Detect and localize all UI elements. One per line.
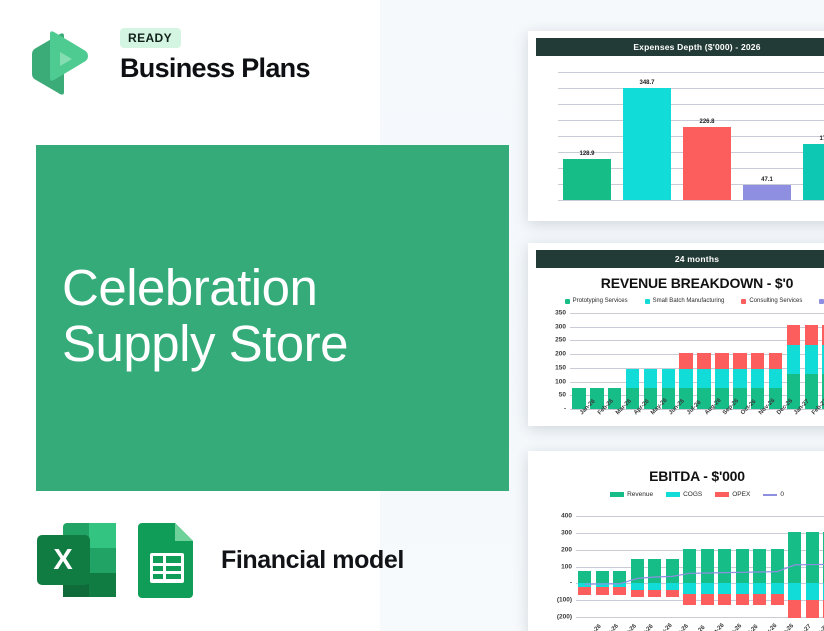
bar-segment bbox=[751, 369, 765, 388]
y-axis-tick: 200 bbox=[561, 546, 576, 553]
bar-column[interactable] bbox=[767, 313, 785, 409]
bar-segment bbox=[715, 369, 729, 388]
bar-group bbox=[570, 313, 824, 409]
brand-text-block: READY Business Plans bbox=[120, 28, 310, 84]
y-axis-tick: (100) bbox=[557, 597, 576, 604]
page-title-line-1: Celebration bbox=[62, 260, 348, 316]
legend-item: - bbox=[819, 298, 824, 304]
bar-column[interactable] bbox=[677, 313, 695, 409]
svg-text:X: X bbox=[53, 544, 73, 576]
bar-segment bbox=[751, 353, 765, 369]
bar-column[interactable] bbox=[570, 313, 588, 409]
legend-item: Small Batch Manufacturing bbox=[645, 298, 725, 304]
revenue-chart-legend: Prototyping ServicesSmall Batch Manufact… bbox=[536, 298, 824, 304]
chart-card-ebitda[interactable]: EBITDA - $'000 RevenueCOGSOPEX0 40030020… bbox=[528, 451, 824, 631]
legend-item: Consulting Services bbox=[741, 298, 802, 304]
bar-column[interactable] bbox=[820, 313, 824, 409]
chart-card-expenses[interactable]: Expenses Depth ($'000) - 2026 128.9348.7… bbox=[528, 31, 824, 221]
bar-column[interactable]: 176.5 bbox=[798, 72, 824, 200]
bar-column[interactable] bbox=[785, 313, 803, 409]
page-title: Celebration Supply Store bbox=[62, 260, 348, 372]
y-axis-tick: 400 bbox=[561, 513, 576, 520]
ebitda-plot-area: 400300200100-(100)(200)(300)Jan-26Feb-26… bbox=[576, 516, 824, 631]
page-title-line-2: Supply Store bbox=[62, 316, 348, 372]
legend-label: 0 bbox=[780, 491, 784, 498]
legend-swatch bbox=[565, 299, 570, 304]
bar-column[interactable] bbox=[713, 313, 731, 409]
ebitda-line-series bbox=[576, 516, 824, 631]
legend-label: OPEX bbox=[732, 491, 750, 498]
y-axis-tick: 50 bbox=[559, 392, 570, 399]
legend-swatch bbox=[610, 492, 624, 497]
bar-segment bbox=[715, 353, 729, 369]
legend-item: OPEX bbox=[715, 491, 750, 498]
bar-column[interactable] bbox=[749, 313, 767, 409]
legend-item: Revenue bbox=[610, 491, 653, 498]
footer-label: Financial model bbox=[221, 546, 404, 575]
legend-item: COGS bbox=[666, 491, 702, 498]
slide-canvas: READY Business Plans Celebration Supply … bbox=[0, 0, 824, 631]
legend-swatch bbox=[741, 299, 746, 304]
bar-segment bbox=[733, 353, 747, 369]
y-axis-tick: (200) bbox=[557, 614, 576, 621]
legend-swatch bbox=[645, 299, 650, 304]
brand-logo[interactable]: READY Business Plans bbox=[28, 28, 328, 100]
legend-swatch bbox=[819, 299, 824, 304]
legend-swatch bbox=[666, 492, 680, 497]
bar-column[interactable] bbox=[588, 313, 606, 409]
ready-badge: READY bbox=[120, 28, 181, 48]
bar-segment bbox=[697, 353, 711, 369]
y-axis-tick: 200 bbox=[555, 351, 570, 358]
bar-segment bbox=[805, 345, 819, 374]
y-axis-tick: 300 bbox=[555, 323, 570, 330]
ebitda-chart-title: EBITDA - $'000 bbox=[536, 468, 824, 484]
bar-column[interactable] bbox=[695, 313, 713, 409]
y-axis-tick: 300 bbox=[561, 529, 576, 536]
legend-label: Small Batch Manufacturing bbox=[653, 298, 725, 304]
bar-column[interactable]: 128.9 bbox=[558, 72, 616, 200]
gridline bbox=[558, 200, 824, 201]
x-axis: Jan-26Feb-26Mar-26Apr-26May-26Jun-26Jul-… bbox=[570, 409, 824, 426]
y-axis-tick: 100 bbox=[561, 563, 576, 570]
bar-group: 128.9348.7226.847.1176.5 bbox=[558, 72, 824, 200]
bar-column[interactable] bbox=[606, 313, 624, 409]
bar-column[interactable] bbox=[642, 313, 660, 409]
bar-segment bbox=[644, 369, 658, 388]
legend-label: Prototyping Services bbox=[573, 298, 628, 304]
bar-segment bbox=[626, 369, 640, 388]
legend-label: COGS bbox=[683, 491, 702, 498]
legend-label: Consulting Services bbox=[749, 298, 802, 304]
revenue-plot-area: 35030025020015010050-Jan-26Feb-26Mar-26A… bbox=[570, 313, 824, 409]
bar-column[interactable] bbox=[802, 313, 820, 409]
bar-value-label: 47.1 bbox=[761, 177, 773, 183]
legend-item: Prototyping Services bbox=[565, 298, 628, 304]
revenue-chart-title: REVENUE BREAKDOWN - $'0 bbox=[536, 275, 824, 291]
bar-column[interactable]: 226.8 bbox=[678, 72, 736, 200]
bar-segment bbox=[697, 369, 711, 388]
footer-row: X Financial model bbox=[34, 520, 404, 600]
brand-name: Business Plans bbox=[120, 53, 310, 84]
y-axis-tick: 350 bbox=[555, 310, 570, 317]
legend-label: Revenue bbox=[627, 491, 653, 498]
bar-segment bbox=[769, 353, 783, 369]
double-play-logo-icon bbox=[28, 30, 92, 96]
bar-segment bbox=[769, 369, 783, 388]
bar-segment bbox=[683, 127, 732, 200]
bar-column[interactable] bbox=[659, 313, 677, 409]
expenses-plot-area: 128.9348.7226.847.1176.5 bbox=[558, 72, 824, 200]
bar-column[interactable]: 348.7 bbox=[618, 72, 676, 200]
bar-segment bbox=[679, 353, 693, 369]
revenue-chart-header: 24 months bbox=[536, 250, 824, 268]
bar-column[interactable]: 47.1 bbox=[738, 72, 796, 200]
bar-segment bbox=[679, 369, 693, 388]
bar-segment bbox=[805, 325, 819, 345]
bar-segment bbox=[743, 185, 792, 200]
bar-segment bbox=[787, 345, 801, 374]
y-axis-tick: 150 bbox=[555, 364, 570, 371]
bar-segment bbox=[787, 325, 801, 345]
y-axis-tick: 250 bbox=[555, 337, 570, 344]
bar-value-label: 348.7 bbox=[639, 80, 654, 86]
bar-segment bbox=[623, 88, 672, 200]
legend-swatch bbox=[763, 494, 777, 496]
google-sheets-icon bbox=[136, 520, 198, 600]
bar-segment bbox=[563, 159, 612, 200]
bar-segment bbox=[803, 144, 824, 200]
chart-card-revenue[interactable]: 24 months REVENUE BREAKDOWN - $'0 Protot… bbox=[528, 243, 824, 426]
bar-segment bbox=[662, 369, 676, 388]
bar-value-label: 128.9 bbox=[579, 151, 594, 157]
y-axis-tick: 100 bbox=[555, 378, 570, 385]
ebitda-chart-legend: RevenueCOGSOPEX0 bbox=[536, 491, 824, 498]
legend-swatch bbox=[715, 492, 729, 497]
bar-column[interactable] bbox=[731, 313, 749, 409]
bar-column[interactable] bbox=[624, 313, 642, 409]
bar-value-label: 176.5 bbox=[819, 136, 824, 142]
expenses-chart-header: Expenses Depth ($'000) - 2026 bbox=[536, 38, 824, 56]
microsoft-excel-icon: X bbox=[34, 520, 119, 600]
legend-item: 0 bbox=[763, 491, 784, 498]
bar-segment bbox=[733, 369, 747, 388]
bar-value-label: 226.8 bbox=[699, 119, 714, 125]
